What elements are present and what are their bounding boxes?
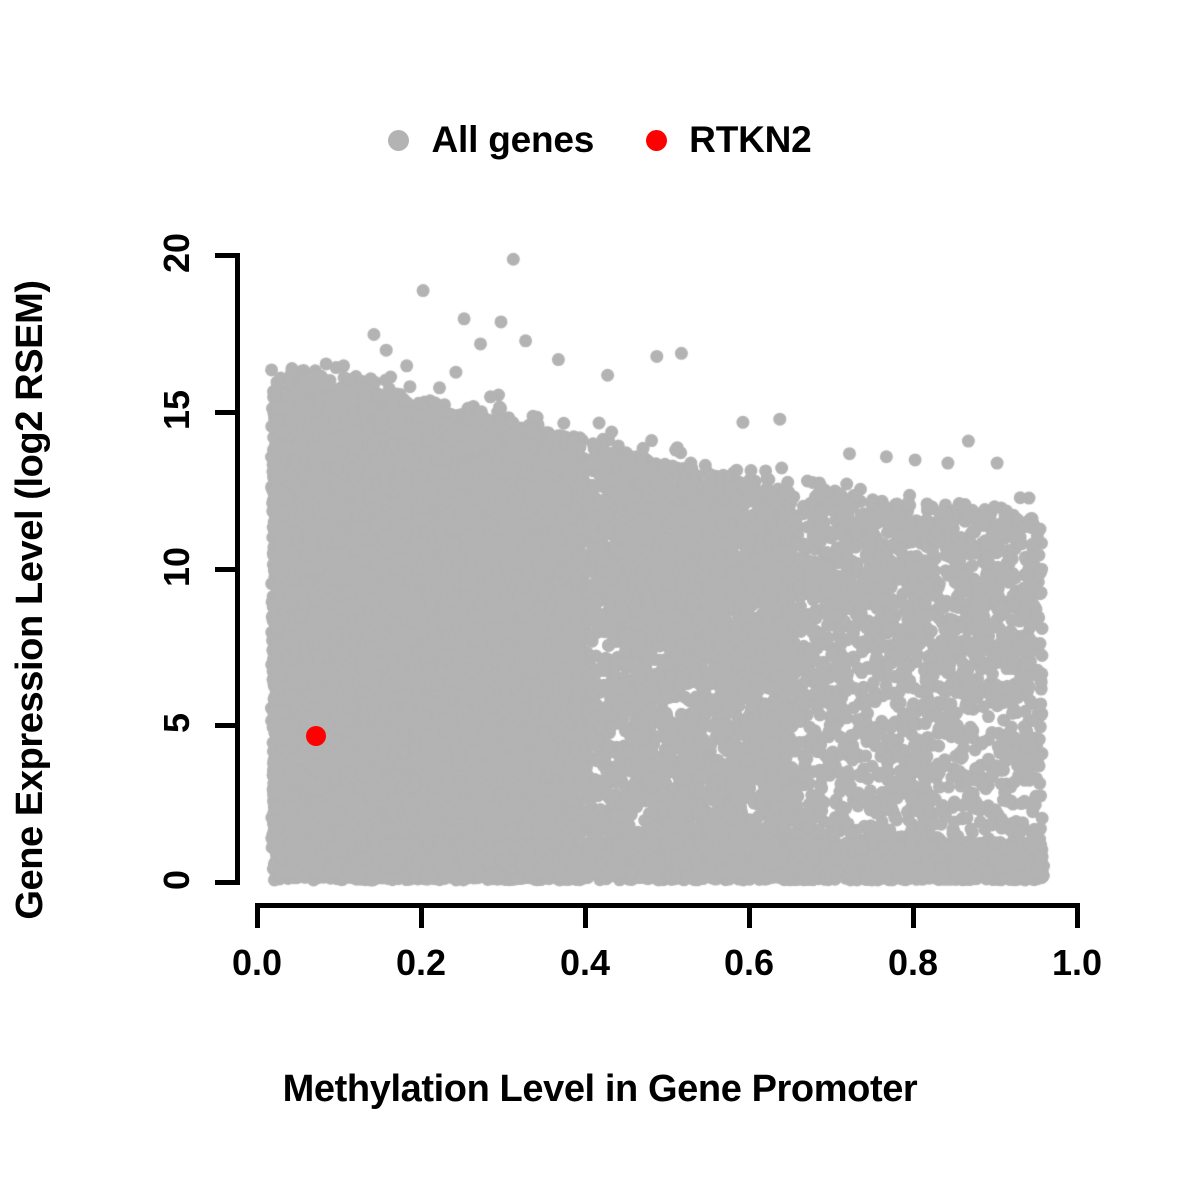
scatter-plot-figure: All genes RTKN2 Gene Expression Level (l…	[0, 0, 1200, 1200]
x-axis-line	[255, 903, 1080, 908]
y-axis-tick	[215, 880, 235, 885]
scatter-points-layer	[0, 0, 1200, 1200]
legend-label-all-genes: All genes	[431, 119, 594, 161]
x-axis-tick	[1075, 908, 1080, 928]
x-axis-tick	[419, 908, 424, 928]
rtkn2-highlight-point	[306, 726, 326, 746]
y-axis-tick-label: 15	[155, 378, 199, 442]
x-axis-tick-label: 1.0	[1015, 942, 1139, 984]
x-axis-tick-label: 0.0	[195, 942, 319, 984]
x-axis-tick	[255, 908, 260, 928]
x-axis-tick-label: 0.6	[687, 942, 811, 984]
y-axis-tick	[215, 253, 235, 258]
y-axis-tick	[215, 410, 235, 415]
legend-item-all-genes: All genes	[388, 119, 594, 161]
legend-item-rtkn2: RTKN2	[646, 119, 811, 161]
y-axis-tick-label: 0	[155, 848, 199, 912]
x-axis-tick-label: 0.2	[359, 942, 483, 984]
x-axis-tick	[911, 908, 916, 928]
y-axis-tick-label: 20	[155, 221, 199, 285]
y-axis-line	[235, 253, 240, 885]
y-axis-tick	[215, 723, 235, 728]
x-axis-tick	[747, 908, 752, 928]
legend-marker-rtkn2-icon	[646, 130, 667, 151]
legend-label-rtkn2: RTKN2	[689, 119, 811, 161]
y-axis-tick-label: 10	[155, 535, 199, 599]
y-axis-title: Gene Expression Level (log2 RSEM)	[0, 0, 60, 1200]
legend-marker-all-genes-icon	[388, 130, 409, 151]
x-axis-tick-label: 0.4	[523, 942, 647, 984]
plot-area	[0, 0, 1200, 1200]
y-axis-tick	[215, 567, 235, 572]
chart-legend: All genes RTKN2	[0, 108, 1200, 172]
x-axis-tick-label: 0.8	[851, 942, 975, 984]
x-axis-title: Methylation Level in Gene Promoter	[0, 1068, 1200, 1111]
x-axis-tick	[583, 908, 588, 928]
y-axis-tick-label: 5	[155, 691, 199, 755]
